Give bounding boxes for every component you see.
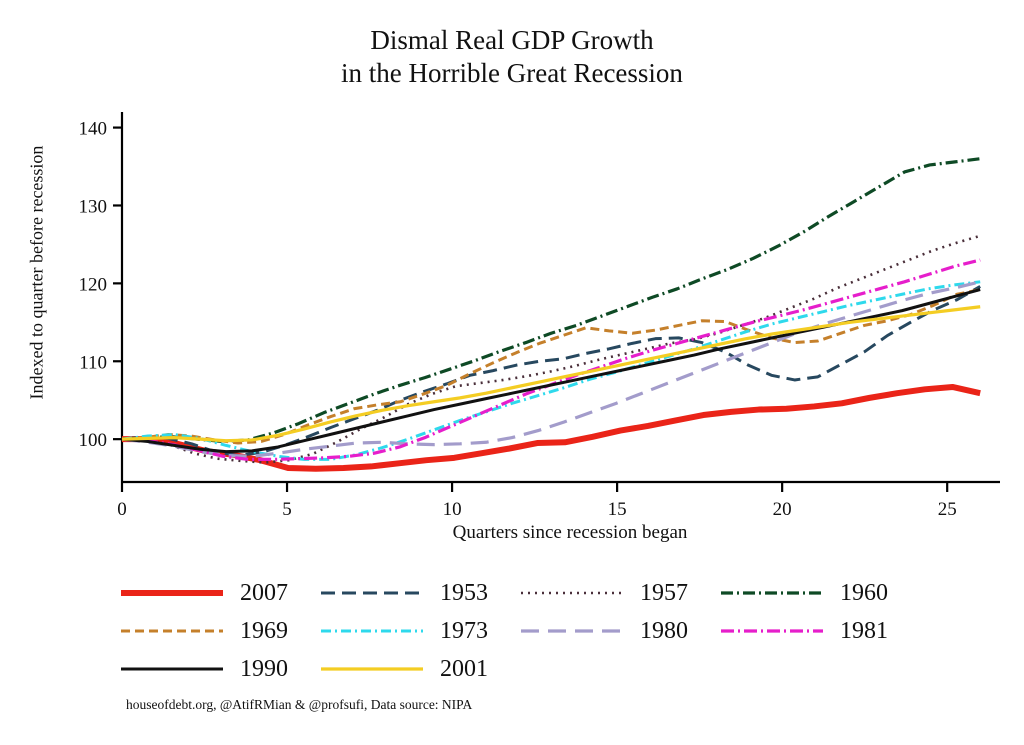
legend-item-1973[interactable]: 1973 <box>318 618 518 645</box>
legend-swatch-icon <box>318 660 426 678</box>
legend-swatch-icon <box>718 622 826 640</box>
x-tick-label: 25 <box>938 499 957 520</box>
legend-label: 1980 <box>626 618 688 645</box>
legend-label: 1957 <box>626 580 688 607</box>
series-line-2001 <box>122 307 980 441</box>
chart-legend: 2007195319571960196919731980198119902001 <box>118 574 1018 688</box>
y-tick-label: 110 <box>79 352 107 373</box>
legend-swatch-icon <box>318 584 426 602</box>
chart-container: Dismal Real GDP Growth in the Horrible G… <box>0 0 1024 745</box>
x-tick-label: 5 <box>282 499 292 520</box>
legend-item-2007[interactable]: 2007 <box>118 580 318 607</box>
legend-label: 1953 <box>426 580 488 607</box>
y-tick-label: 100 <box>79 430 108 451</box>
series-line-1969 <box>122 290 980 443</box>
legend-row: 1969197319801981 <box>118 612 1018 650</box>
series-line-1980 <box>122 282 980 456</box>
legend-swatch-icon <box>118 622 226 640</box>
legend-swatch-icon <box>518 584 626 602</box>
legend-label: 1973 <box>426 618 488 645</box>
x-tick-label: 20 <box>773 499 792 520</box>
legend-item-1953[interactable]: 1953 <box>318 580 518 607</box>
legend-item-1980[interactable]: 1980 <box>518 618 718 645</box>
legend-label: 1960 <box>826 580 888 607</box>
x-tick-label: 10 <box>443 499 462 520</box>
y-tick-label: 140 <box>79 119 108 140</box>
x-tick-label: 0 <box>117 499 127 520</box>
legend-label: 2007 <box>226 580 288 607</box>
legend-row: 2007195319571960 <box>118 574 1018 612</box>
legend-item-1960[interactable]: 1960 <box>718 580 918 607</box>
y-tick-label: 130 <box>79 196 108 217</box>
legend-item-1969[interactable]: 1969 <box>118 618 318 645</box>
legend-item-1990[interactable]: 1990 <box>118 656 318 683</box>
legend-swatch-icon <box>518 622 626 640</box>
legend-label: 1969 <box>226 618 288 645</box>
source-footnote: houseofdebt.org, @AtifRMian & @profsufi,… <box>126 697 472 713</box>
legend-label: 2001 <box>426 656 488 683</box>
legend-swatch-icon <box>118 660 226 678</box>
legend-swatch-icon <box>718 584 826 602</box>
x-tick-label: 15 <box>608 499 627 520</box>
legend-row: 19902001 <box>118 650 1018 688</box>
legend-item-2001[interactable]: 2001 <box>318 656 518 683</box>
legend-item-1957[interactable]: 1957 <box>518 580 718 607</box>
legend-label: 1981 <box>826 618 888 645</box>
legend-item-1981[interactable]: 1981 <box>718 618 918 645</box>
legend-label: 1990 <box>226 656 288 683</box>
legend-swatch-icon <box>118 584 226 602</box>
series-line-1957 <box>122 236 980 463</box>
y-tick-label: 120 <box>79 274 108 295</box>
legend-swatch-icon <box>318 622 426 640</box>
